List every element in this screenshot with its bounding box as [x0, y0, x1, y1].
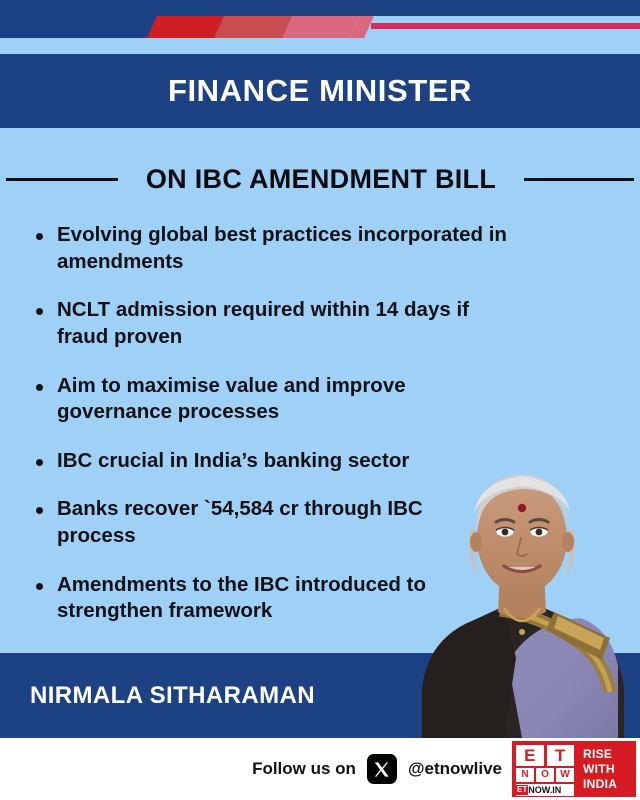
- header-band: FINANCE MINISTER: [0, 54, 640, 128]
- accent-slash-mid: [214, 16, 292, 38]
- bullet-dot-icon: [36, 308, 43, 315]
- follow-label: Follow us on: [252, 759, 356, 779]
- tagline-line-3: INDIA: [583, 777, 634, 792]
- list-item-text: Evolving global best practices incorpora…: [57, 222, 517, 275]
- news-graphic-card: FINANCE MINISTER ON IBC AMENDMENT BILL E…: [0, 0, 640, 800]
- accent-slash-pink: [282, 16, 360, 38]
- list-item: Evolving global best practices incorpora…: [36, 222, 596, 275]
- accent-rule-top: [371, 23, 640, 29]
- list-item: Banks recover `54,584 cr through IBC pro…: [36, 496, 596, 549]
- list-item-text: Aim to maximise value and improve govern…: [57, 373, 517, 426]
- accent-slash-red: [147, 16, 224, 38]
- top-decorative-banner: [0, 0, 640, 54]
- list-item: IBC crucial in India’s banking sector: [36, 448, 596, 475]
- list-item-text: Amendments to the IBC introduced to stre…: [57, 572, 517, 625]
- page-title: FINANCE MINISTER: [168, 73, 472, 109]
- bullet-list: Evolving global best practices incorpora…: [36, 222, 596, 647]
- tagline-line-2: WITH: [583, 762, 634, 777]
- subtitle-text: ON IBC AMENDMENT BILL: [146, 164, 496, 195]
- list-item-text: IBC crucial in India’s banking sector: [57, 448, 409, 475]
- bullet-dot-icon: [36, 233, 43, 240]
- x-twitter-icon[interactable]: [367, 754, 397, 784]
- bullet-dot-icon: [36, 507, 43, 514]
- etnow-letter-e: E: [516, 745, 544, 766]
- social-handle[interactable]: @etnowlive: [408, 759, 502, 779]
- etnow-domain-text: NOW.IN: [528, 784, 561, 796]
- bullet-dot-icon: [36, 583, 43, 590]
- etnow-now-row: N O W: [516, 768, 574, 782]
- etnow-letter-o: O: [536, 768, 554, 782]
- bullet-dot-icon: [36, 459, 43, 466]
- etnow-letter-t: T: [547, 745, 575, 766]
- etnow-logo: E T N O W ET NOW.IN RISE WITH INDIA: [512, 741, 636, 797]
- list-item-text: NCLT admission required within 14 days i…: [57, 297, 517, 350]
- etnow-et-row: E T: [516, 745, 574, 766]
- etnow-tagline: RISE WITH INDIA: [576, 743, 634, 795]
- list-item-text: Banks recover `54,584 cr through IBC pro…: [57, 496, 477, 549]
- etnow-domain-tag: ET: [516, 785, 528, 795]
- etnow-domain: ET NOW.IN: [516, 784, 574, 796]
- bullet-dot-icon: [36, 384, 43, 391]
- etnow-letter-n: N: [516, 768, 534, 782]
- list-item: Amendments to the IBC introduced to stre…: [36, 572, 596, 625]
- footer-bar: Follow us on @etnowlive E T N O W ET: [0, 738, 640, 800]
- subtitle-rule-left: [6, 178, 118, 181]
- subtitle-rule-right: [524, 178, 634, 181]
- list-item: NCLT admission required within 14 days i…: [36, 297, 596, 350]
- list-item: Aim to maximise value and improve govern…: [36, 373, 596, 426]
- subtitle-row: ON IBC AMENDMENT BILL: [0, 150, 640, 208]
- speaker-name: NIRMALA SITHARAMAN: [30, 682, 315, 710]
- etnow-letter-w: W: [556, 768, 574, 782]
- etnow-logo-left: E T N O W ET NOW.IN: [514, 743, 576, 795]
- tagline-line-1: RISE: [583, 747, 634, 762]
